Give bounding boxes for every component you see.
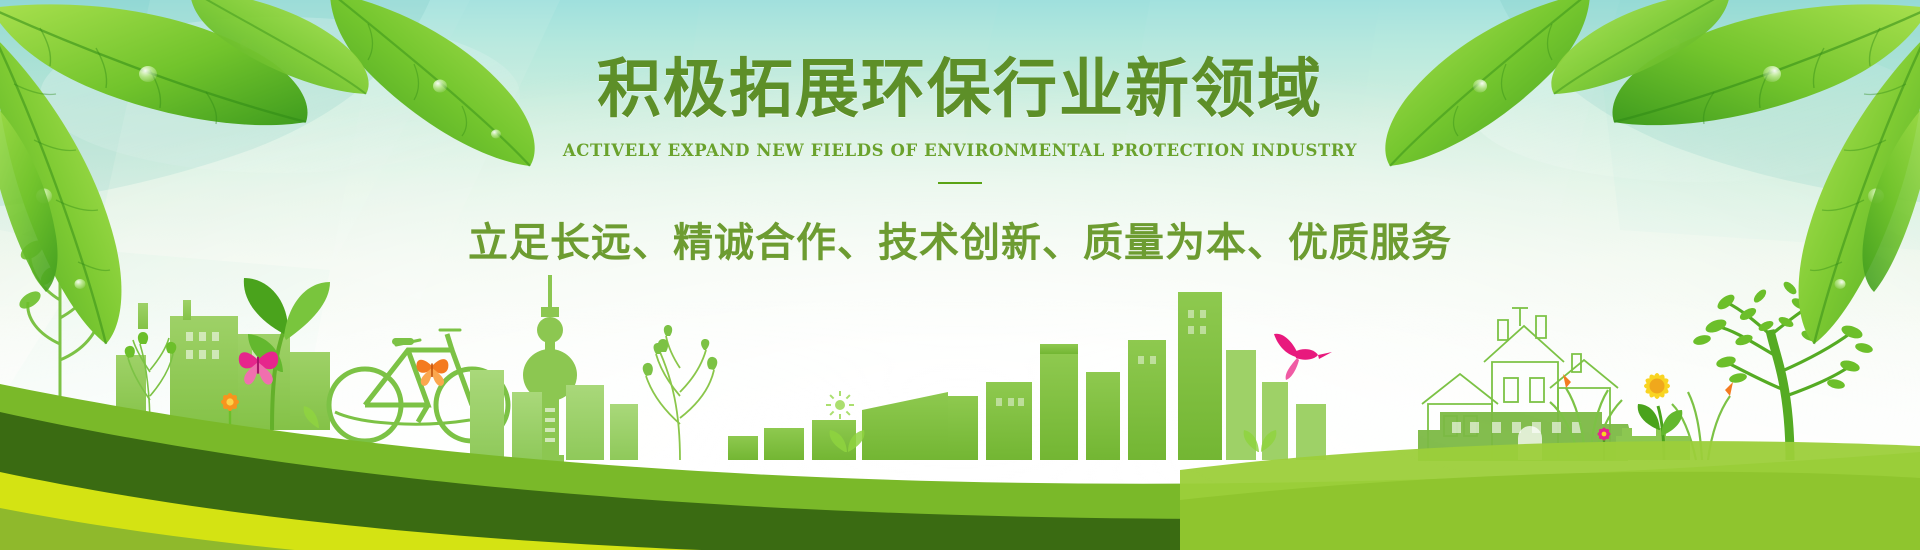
leaves-top-right [0,0,1920,550]
eco-banner: 积极拓展环保行业新领域 ACTIVELY EXPAND NEW FIELDS O… [0,0,1920,550]
